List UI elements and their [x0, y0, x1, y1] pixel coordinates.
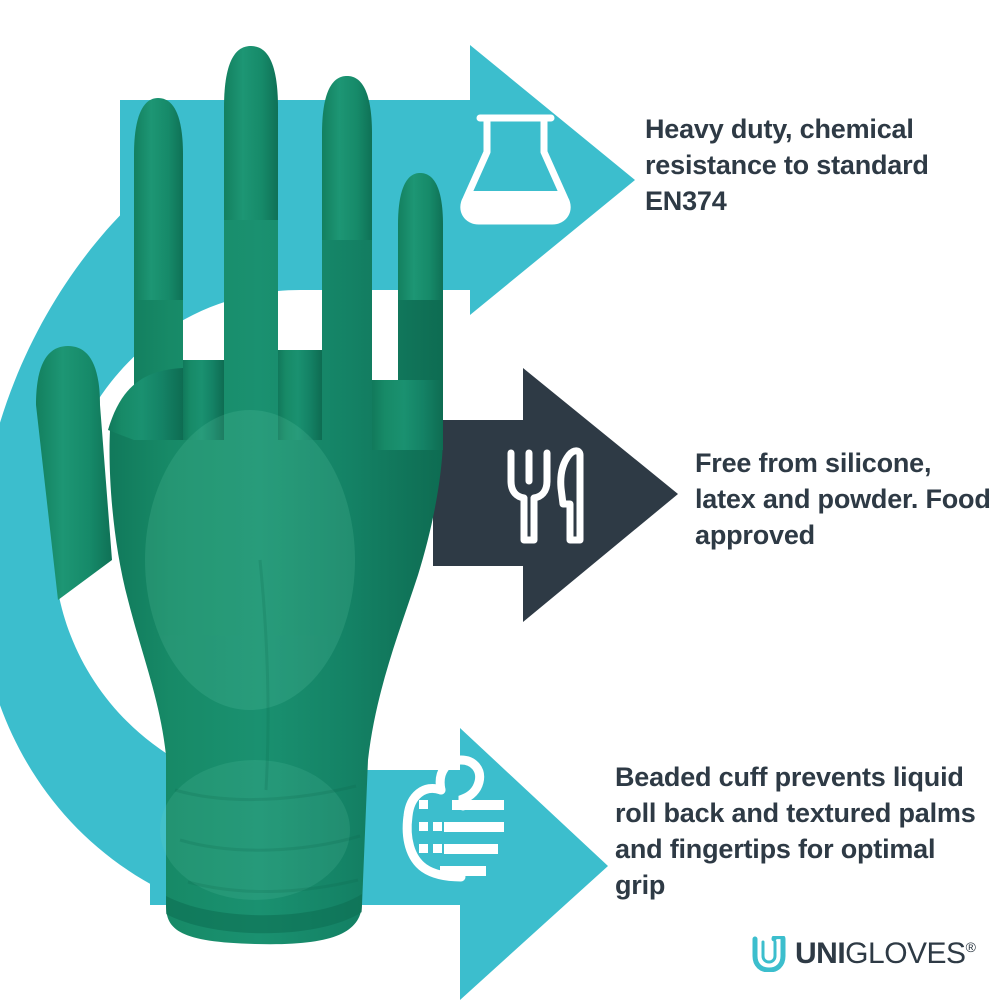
feature-text-cuff: Beaded cuff prevents liquid roll back an… — [615, 760, 985, 904]
unigloves-u-mark — [752, 936, 786, 972]
unigloves-logo[interactable]: UNIGLOVES® — [752, 936, 975, 972]
logo-word-gloves: GLOVES — [845, 937, 965, 970]
flask-icon — [462, 118, 569, 222]
feature-text-food: Free from silicone, latex and powder. Fo… — [695, 446, 995, 554]
fork-knife-icon — [511, 451, 580, 540]
logo-word-uni: UNI — [795, 937, 845, 970]
textured-hand-icon — [407, 760, 504, 877]
infographic-canvas: Heavy duty, chemical resistance to stand… — [0, 0, 1000, 1000]
registered-trademark-symbol: ® — [966, 939, 976, 955]
unigloves-wordmark: UNIGLOVES® — [795, 939, 975, 969]
feature-text-chemical: Heavy duty, chemical resistance to stand… — [645, 112, 975, 220]
